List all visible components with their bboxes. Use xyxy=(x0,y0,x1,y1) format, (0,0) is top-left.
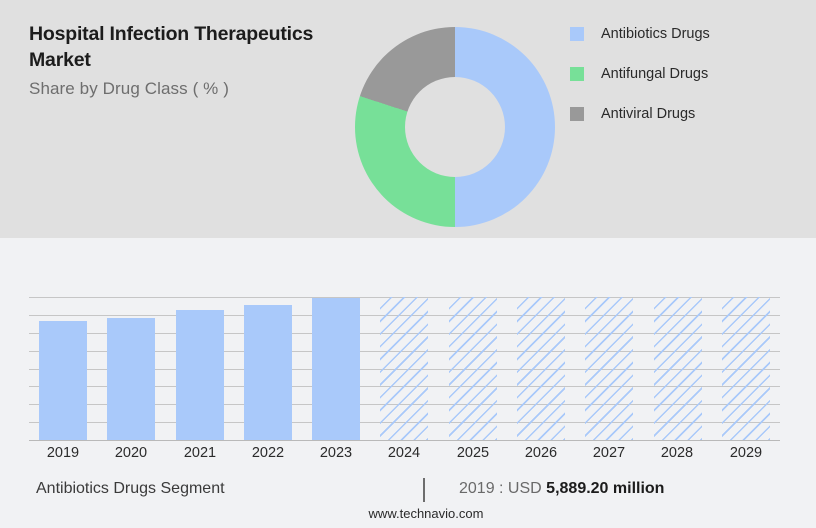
bar-2026[interactable] xyxy=(517,297,565,440)
segment-label: Antibiotics Drugs Segment xyxy=(36,480,225,498)
chart-page: Hospital Infection Therapeutics Market S… xyxy=(0,0,816,528)
x-axis-label-2024: 2024 xyxy=(370,445,438,461)
footer-value-block: 2019 : USD 5,889.20 million xyxy=(459,480,664,498)
bar-2019[interactable] xyxy=(39,321,87,440)
x-axis-label-2023: 2023 xyxy=(302,445,370,461)
footer-divider xyxy=(423,478,425,502)
source-url: www.technavio.com xyxy=(18,506,816,521)
x-axis-label-2020: 2020 xyxy=(97,445,165,461)
x-axis-label-2029: 2029 xyxy=(712,445,780,461)
bar-2027[interactable] xyxy=(585,297,633,440)
bar-2029[interactable] xyxy=(722,297,770,440)
donut-chart xyxy=(355,27,555,227)
footer-value: 5,889.20 million xyxy=(546,480,664,497)
x-axis-label-2028: 2028 xyxy=(643,445,711,461)
bar-2020[interactable] xyxy=(107,318,155,440)
x-axis-label-2019: 2019 xyxy=(29,445,97,461)
legend-item-label: Antiviral Drugs xyxy=(601,106,695,122)
x-axis-label-2022: 2022 xyxy=(234,445,302,461)
bar-chart-plot-area: 2019202020212022202320242025202620272028… xyxy=(29,297,780,440)
title-block: Hospital Infection Therapeutics Market S… xyxy=(29,22,359,99)
legend-item-antiviral-drugs[interactable]: Antiviral Drugs xyxy=(570,94,710,134)
page-title: Hospital Infection Therapeutics Market xyxy=(29,22,359,73)
legend-item-label: Antibiotics Drugs xyxy=(601,26,710,42)
legend: Antibiotics Drugs Antifungal Drugs Antiv… xyxy=(570,14,710,134)
bar-2025[interactable] xyxy=(449,297,497,440)
footer: Antibiotics Drugs Segment 2019 : USD 5,8… xyxy=(0,480,816,528)
bar-2024[interactable] xyxy=(380,297,428,440)
bar-2028[interactable] xyxy=(654,297,702,440)
donut-center-hole xyxy=(405,77,505,177)
x-axis-label-2025: 2025 xyxy=(439,445,507,461)
x-axis-label-2027: 2027 xyxy=(575,445,643,461)
footer-value-label: 2019 : USD xyxy=(459,480,542,497)
legend-swatch-icon xyxy=(570,107,584,121)
legend-item-antibiotics-drugs[interactable]: Antibiotics Drugs xyxy=(570,14,710,54)
x-axis-label-2026: 2026 xyxy=(507,445,575,461)
legend-item-label: Antifungal Drugs xyxy=(601,66,708,82)
bar-2021[interactable] xyxy=(176,310,224,440)
legend-swatch-icon xyxy=(570,67,584,81)
x-axis-line xyxy=(29,440,780,441)
x-axis-label-2021: 2021 xyxy=(166,445,234,461)
bar-2023[interactable] xyxy=(312,298,360,440)
bar-2022[interactable] xyxy=(244,305,292,440)
legend-swatch-icon xyxy=(570,27,584,41)
page-subtitle: Share by Drug Class ( % ) xyxy=(29,79,359,99)
donut-chart-panel: Hospital Infection Therapeutics Market S… xyxy=(0,0,816,238)
legend-item-antifungal-drugs[interactable]: Antifungal Drugs xyxy=(570,54,710,94)
